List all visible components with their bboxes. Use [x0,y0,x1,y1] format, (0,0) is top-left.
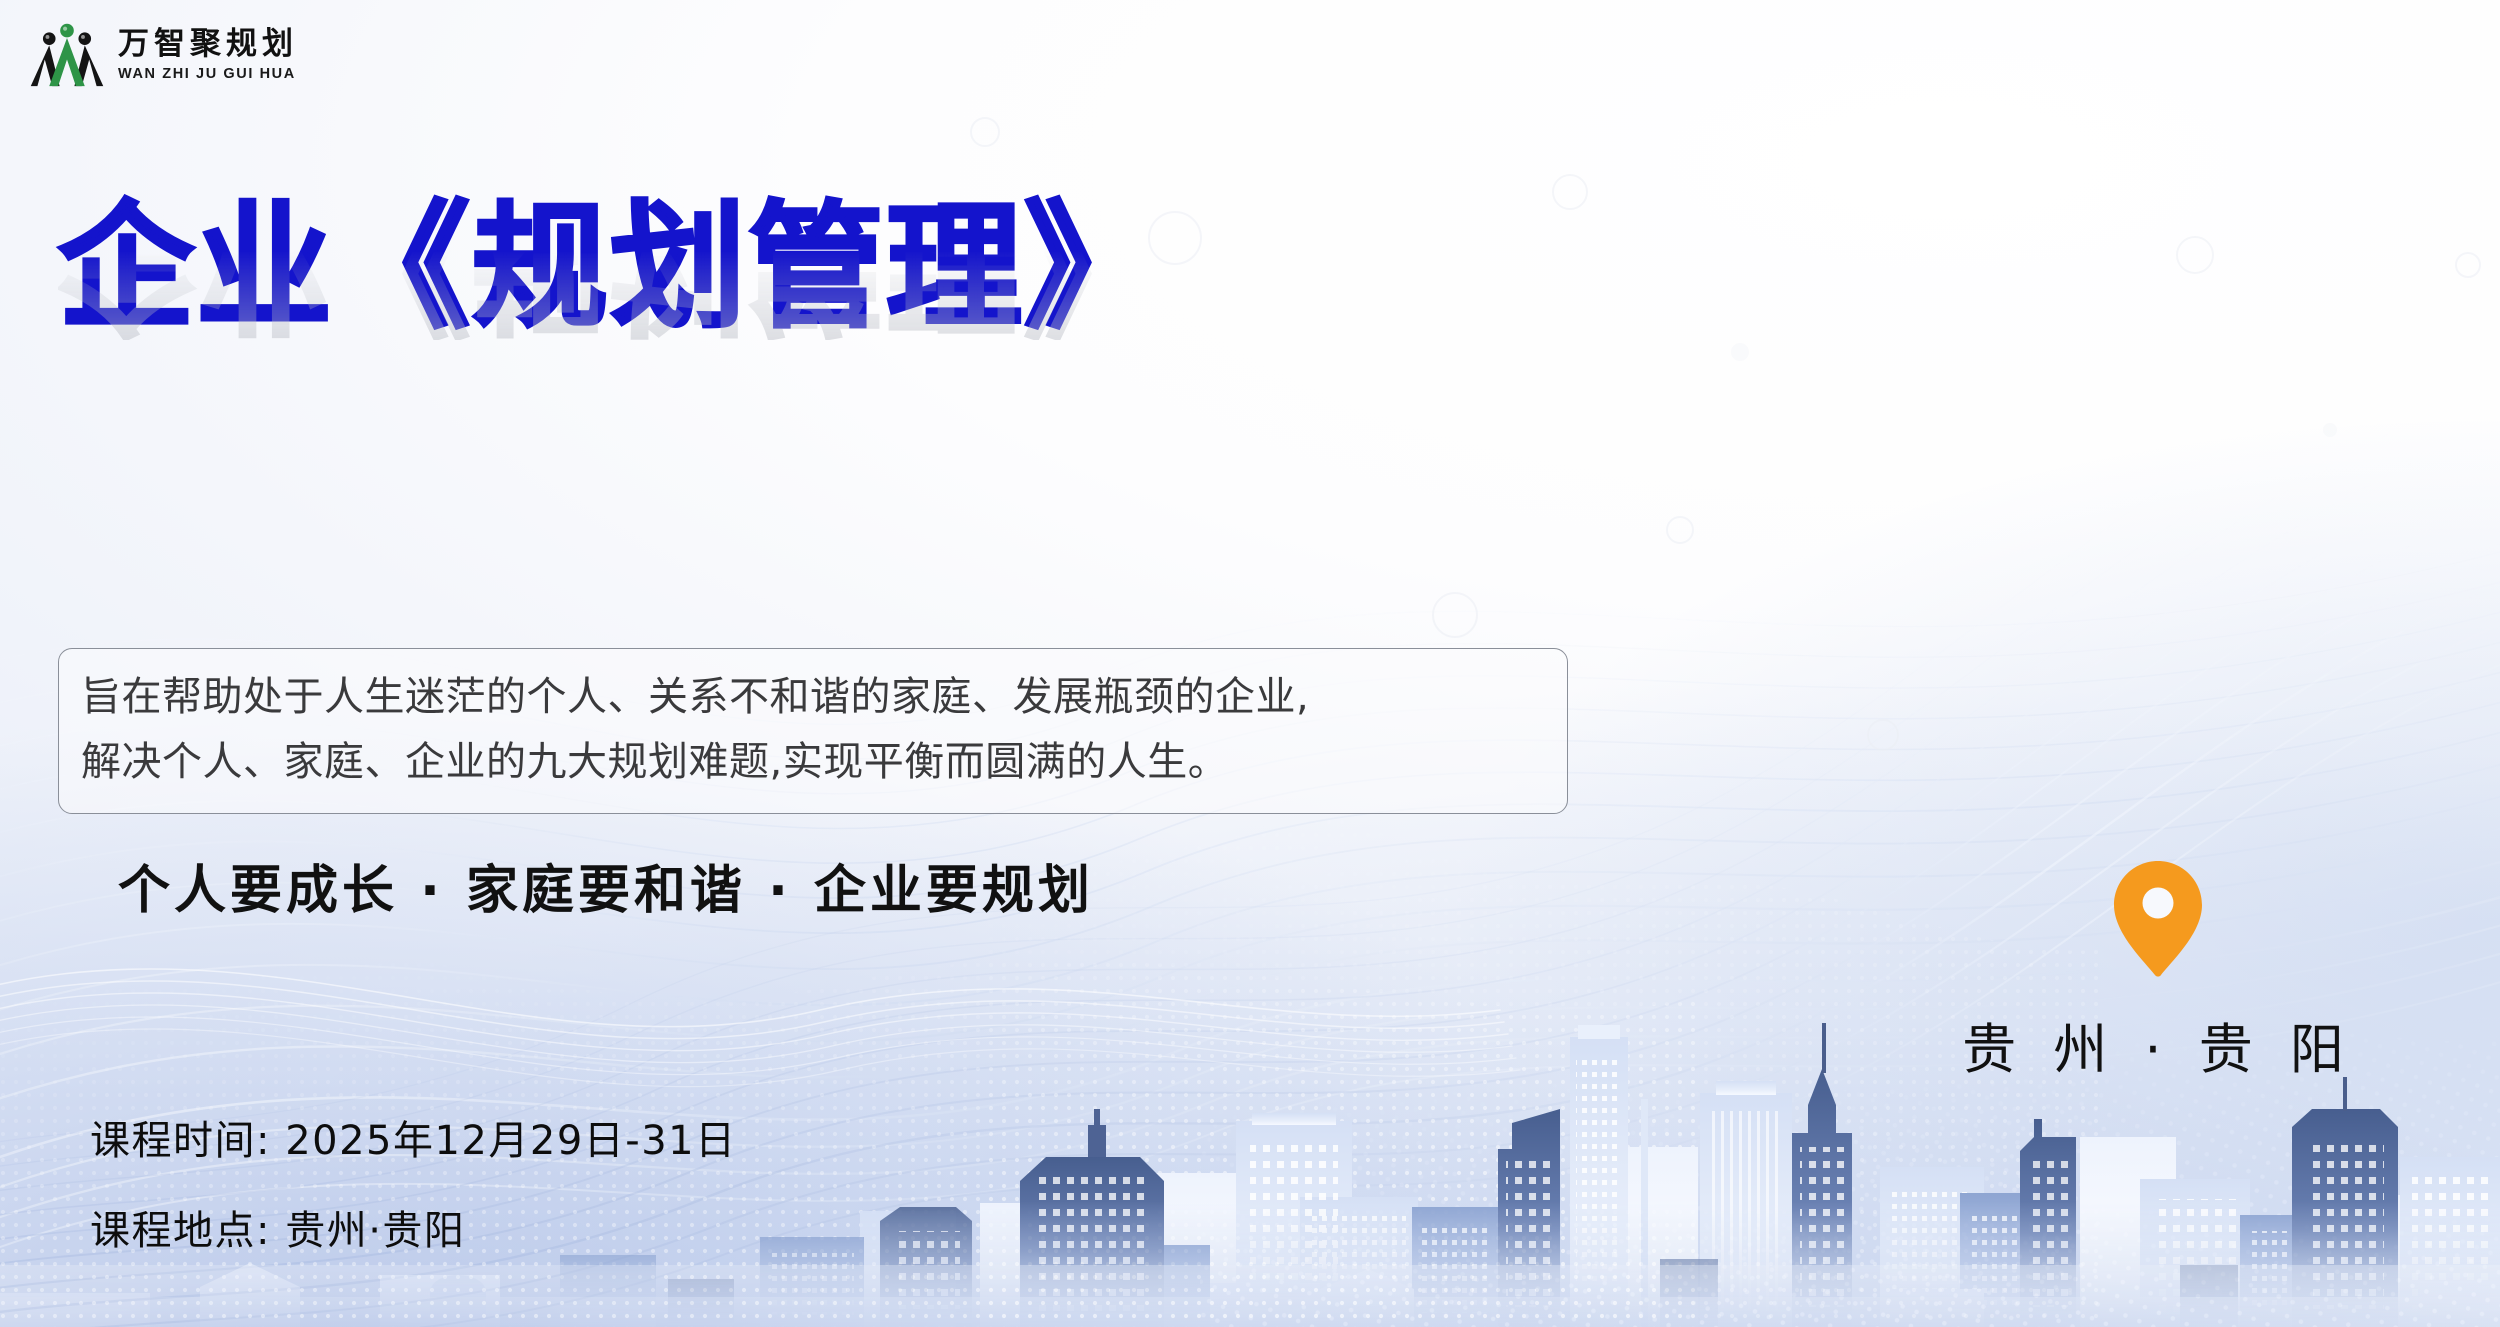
tagline: 个人要成长 · 家庭要和谐 · 企业要规划 [118,848,1094,923]
title-block: 企业《规划管理》 企业《规划管理》 [58,196,1162,436]
course-place: 课程地点: 贵州·贵阳 [90,1198,737,1256]
map-pin-icon [2110,857,2206,981]
three-people-logo-icon [30,18,104,92]
description-line-2: 解决个人、家庭、企业的九大规划难题,实现平衡而圆满的人生。 [81,730,1545,795]
description-box: 旨在帮助处于人生迷茫的个人、关系不和谐的家庭、发展瓶颈的企业, 解决个人、家庭、… [58,648,1568,814]
page-title-reflection: 企业《规划管理》 [58,244,1162,340]
brand-logo: 万智聚规划 WAN ZHI JU GUI HUA [30,18,298,92]
logo-name-cn: 万智聚规划 [118,29,298,60]
location-city: 贵 州 · 贵 阳 [1958,1005,2358,1084]
location-block: 贵 州 · 贵 阳 [1958,857,2358,1084]
description-line-1: 旨在帮助处于人生迷茫的个人、关系不和谐的家庭、发展瓶颈的企业, [81,665,1545,730]
schedule-block: 课程时间: 2025年12月29日-31日 课程地点: 贵州·贵阳 [90,1108,737,1256]
poster-root: 万智聚规划 WAN ZHI JU GUI HUA 企业《规划管理》 企业《规划管… [0,0,2500,1327]
logo-name-en: WAN ZHI JU GUI HUA [118,67,298,82]
course-date: 课程时间: 2025年12月29日-31日 [90,1108,737,1166]
